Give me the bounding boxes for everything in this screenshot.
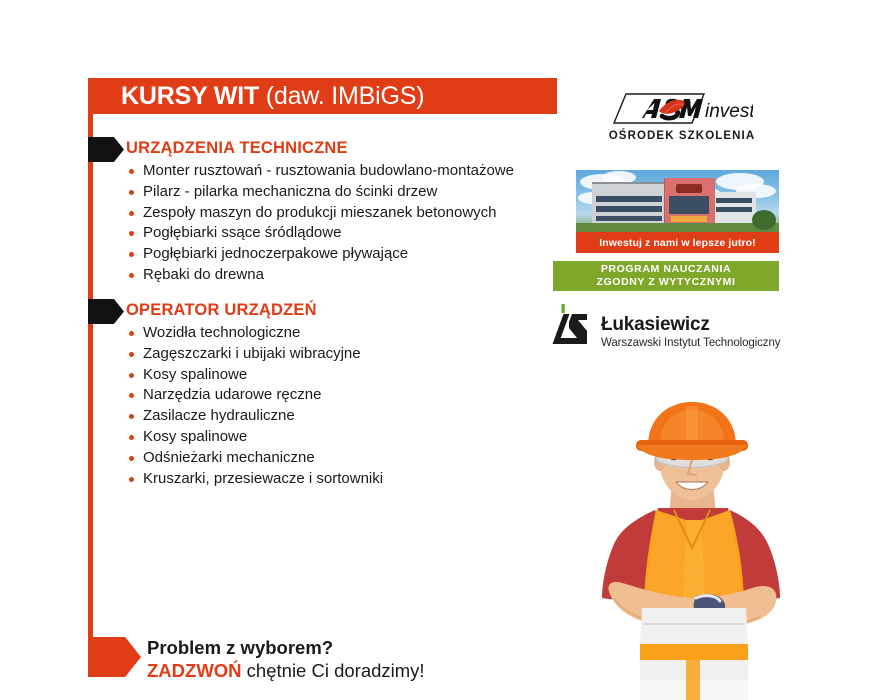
- worker-illustration: [600, 398, 871, 700]
- building-photo-block: Inwestuj z nami w lepsze jutro!: [576, 170, 779, 253]
- lukasiewicz-institute: Warszawski Instytut Technologiczny: [601, 337, 780, 349]
- cta-marker: [88, 637, 141, 677]
- program-badge: PROGRAM NAUCZANIA ZGODNY Z WYTYCZNYMI: [553, 261, 779, 291]
- header-bar: KURSY WIT (daw. IMBiGS): [88, 78, 557, 114]
- list-item[interactable]: Zasilacze hydrauliczne: [126, 406, 383, 427]
- section-urzadzenia-techniczne: URZĄDZENIA TECHNICZNE Monter rusztowań -…: [126, 139, 514, 286]
- section-marker-1: [88, 137, 124, 162]
- building-photo: [576, 170, 779, 232]
- cta-question: Problem z wyborem?: [147, 636, 425, 659]
- section-operator-urzadzen: OPERATOR URZĄDZEŃ Wozidła technologiczne…: [126, 301, 383, 489]
- lukasiewicz-logo-icon: [549, 304, 595, 348]
- page-title: KURSY WIT (daw. IMBiGS): [88, 84, 424, 109]
- list-item[interactable]: Narzędzia udarowe ręczne: [126, 385, 383, 406]
- list-item[interactable]: Pogłębiarki jednoczerpakowe pływające: [126, 244, 514, 265]
- asm-logo-mark: invest: [612, 92, 753, 126]
- cta-block: Problem z wyborem? ZADZWOŃ chętnie Ci do…: [147, 636, 425, 682]
- program-badge-line1: PROGRAM NAUCZANIA: [601, 263, 731, 276]
- list-item[interactable]: Wozidła technologiczne: [126, 323, 383, 344]
- list-item[interactable]: Zagęszczarki i ubijaki wibracyjne: [126, 344, 383, 365]
- list-item[interactable]: Monter rusztowań - rusztowania budowlano…: [126, 161, 514, 182]
- list-item[interactable]: Pilarz - pilarka mechaniczna do ścinki d…: [126, 182, 514, 203]
- cta-call-word: ZADZWOŃ: [147, 660, 242, 681]
- asm-invest-logo: invest OŚRODEK SZKOLENIA: [592, 92, 772, 142]
- lukasiewicz-name: Łukasiewicz: [601, 314, 710, 336]
- course-list-2: Wozidła technologiczne Zagęszczarki i ub…: [126, 323, 383, 489]
- flyer-page: KURSY WIT (daw. IMBiGS) URZĄDZENIA TECHN…: [0, 0, 871, 700]
- cta-action-rest: chętnie Ci doradzimy!: [242, 660, 425, 681]
- list-item[interactable]: Kosy spalinowe: [126, 427, 383, 448]
- list-item[interactable]: Odśnieżarki mechaniczne: [126, 448, 383, 469]
- page-title-strong: KURSY WIT: [121, 82, 259, 110]
- cta-action[interactable]: ZADZWOŃ chętnie Ci doradzimy!: [147, 659, 425, 682]
- asm-logo-subtitle: OŚRODEK SZKOLENIA: [592, 130, 772, 142]
- construction-worker-photo: [600, 398, 871, 700]
- section-heading-2: OPERATOR URZĄDZEŃ: [126, 301, 383, 320]
- left-red-stripe: [88, 78, 93, 663]
- course-list-1: Monter rusztowań - rusztowania budowlano…: [126, 161, 514, 286]
- list-item[interactable]: Zespoły maszyn do produkcji mieszanek be…: [126, 203, 514, 224]
- program-badge-line2: ZGODNY Z WYTYCZNYMI: [597, 276, 736, 289]
- section-heading-1: URZĄDZENIA TECHNICZNE: [126, 139, 514, 158]
- svg-text:invest: invest: [705, 101, 753, 122]
- lukasiewicz-mark-svg: [549, 304, 595, 348]
- section-marker-2: [88, 299, 124, 324]
- list-item[interactable]: Rębaki do drewna: [126, 265, 514, 286]
- page-title-sub: (daw. IMBiGS): [259, 82, 424, 110]
- list-item[interactable]: Pogłębiarki ssące śródlądowe: [126, 223, 514, 244]
- list-item[interactable]: Kosy spalinowe: [126, 365, 383, 386]
- asm-logo-icon: invest: [612, 92, 753, 126]
- list-item[interactable]: Kruszarki, przesiewacze i sortowniki: [126, 469, 383, 490]
- lukasiewicz-logo: Łukasiewicz Warszawski Instytut Technolo…: [549, 304, 799, 360]
- building-caption: Inwestuj z nami w lepsze jutro!: [576, 232, 779, 253]
